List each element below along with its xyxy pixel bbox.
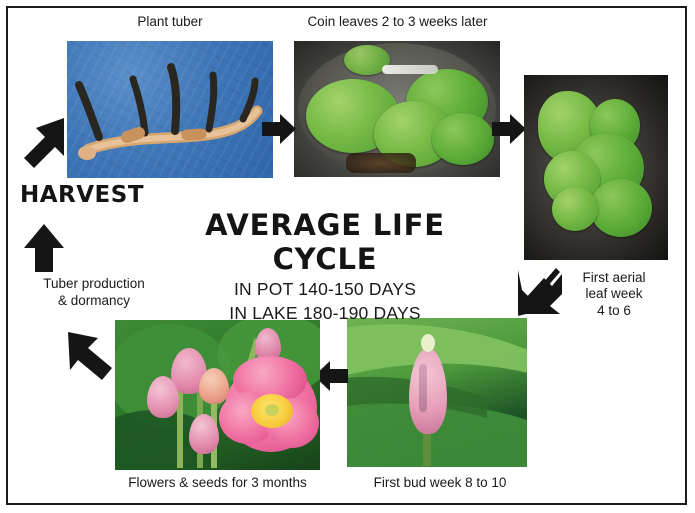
caption-flowers-seeds: Flowers & seeds for 3 months <box>105 475 330 491</box>
caption-coin-leaves: Coin leaves 2 to 3 weeks later <box>290 14 505 30</box>
arrow-up-icon <box>22 222 66 274</box>
arrow-up-left-icon <box>64 330 116 384</box>
caption-first-aerial-leaf: First aerial leaf week 4 to 6 <box>566 270 662 319</box>
page-title: AVERAGE LIFE CYCLE <box>150 208 500 276</box>
arrow-up-right-icon <box>20 116 68 172</box>
center-title-block: AVERAGE LIFE CYCLE IN POT 140-150 DAYS I… <box>150 208 500 324</box>
arrow-down-left-icon <box>516 268 566 318</box>
photo-first-bud <box>347 318 527 467</box>
harvest-label: HARVEST <box>20 182 144 208</box>
photo-coin-leaves <box>294 41 500 177</box>
photo-first-aerial-leaf <box>524 75 668 260</box>
arrow-right-icon <box>260 110 298 148</box>
title-subline-pot: IN POT 140-150 DAYS <box>150 279 500 300</box>
caption-first-aerial-leaf-line2: leaf week <box>566 286 662 302</box>
photo-plant-tuber <box>67 41 273 178</box>
caption-plant-tuber: Plant tuber <box>70 14 270 30</box>
caption-first-bud: First bud week 8 to 10 <box>355 475 525 491</box>
arrow-right-icon-2 <box>490 110 528 148</box>
title-subline-lake: IN LAKE 180-190 DAYS <box>150 303 500 324</box>
photo-flowers-seeds <box>115 320 320 470</box>
caption-first-aerial-leaf-line3: 4 to 6 <box>566 303 662 319</box>
caption-first-aerial-leaf-line1: First aerial <box>566 270 662 286</box>
